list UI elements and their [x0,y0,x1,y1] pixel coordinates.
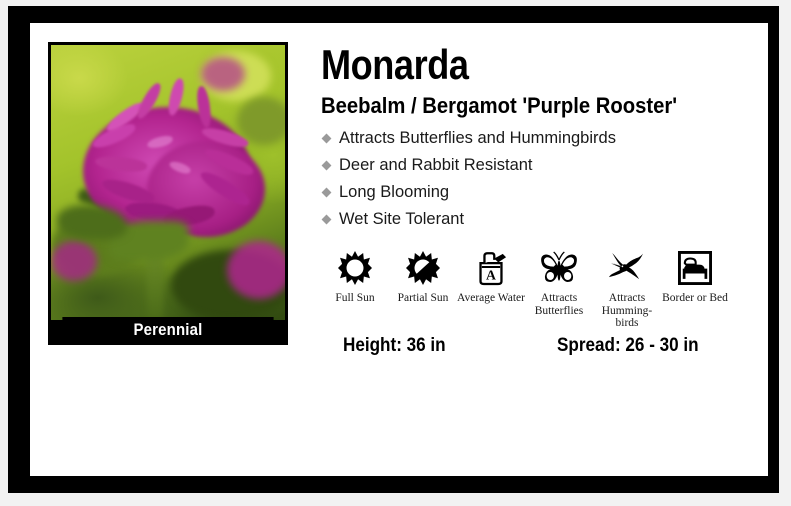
photo-caption-perennial: Perennial [62,317,273,345]
care-icon-row: Full Sun Partial Sun [321,247,741,330]
tag-outer-frame: Perennial Monarda Beebalm / Bergamot 'Pu… [8,6,779,493]
water-level-letter: A [486,267,496,282]
icon-cell-average-water: A Average Water [457,247,525,330]
diamond-bullet-icon [322,188,332,198]
plant-photo-block: Perennial [48,42,288,345]
icon-cell-border-or-bed: Border or Bed [661,247,729,330]
attracts-butterflies-icon [525,247,593,289]
list-item: Long Blooming [321,179,741,206]
list-item: Deer and Rabbit Resistant [321,152,741,179]
attracts-hummingbirds-icon [593,247,661,289]
full-sun-icon [321,247,389,289]
diamond-bullet-icon [322,215,332,225]
icon-label: Attracts Humming-birds [593,292,661,330]
plant-spread-text: Spread: 26 - 30 in [557,335,699,357]
partial-sun-icon [389,247,457,289]
photo-background-bloom [51,241,97,281]
feature-label: Long Blooming [339,183,449,201]
feature-label: Attracts Butterflies and Hummingbirds [339,129,616,147]
icon-cell-full-sun: Full Sun [321,247,389,330]
average-water-icon: A [457,247,525,289]
feature-list: Attracts Butterflies and Hummingbirds De… [321,125,741,233]
feature-label: Deer and Rabbit Resistant [339,156,533,174]
icon-label: Attracts Butterflies [525,292,593,317]
list-item: Attracts Butterflies and Hummingbirds [321,125,741,152]
diamond-bullet-icon [322,161,332,171]
icon-cell-attracts-hummingbirds: Attracts Humming-birds [593,247,661,330]
page-title: Monarda [321,35,682,87]
tag-card: Perennial Monarda Beebalm / Bergamot 'Pu… [30,23,768,476]
photo-background-bloom [227,241,285,299]
border-or-bed-icon [661,247,729,289]
icon-label: Full Sun [321,292,389,305]
icon-cell-attracts-butterflies: Attracts Butterflies [525,247,593,330]
beebalm-flower-photo [51,45,285,320]
feature-label: Wet Site Tolerant [339,210,464,228]
plant-tag-screenshot: Perennial Monarda Beebalm / Bergamot 'Pu… [0,0,791,506]
list-item: Wet Site Tolerant [321,206,741,233]
diamond-bullet-icon [322,134,332,144]
icon-label: Average Water [457,292,525,305]
icon-label: Partial Sun [389,292,457,305]
icon-cell-partial-sun: Partial Sun [389,247,457,330]
plant-subtitle: Beebalm / Bergamot 'Purple Rooster' [321,93,707,119]
photo-background-bloom [201,57,245,91]
icon-label: Border or Bed [661,292,729,305]
plant-height-text: Height: 36 in [343,335,446,357]
plant-info-column: Monarda Beebalm / Bergamot 'Purple Roost… [321,35,741,233]
